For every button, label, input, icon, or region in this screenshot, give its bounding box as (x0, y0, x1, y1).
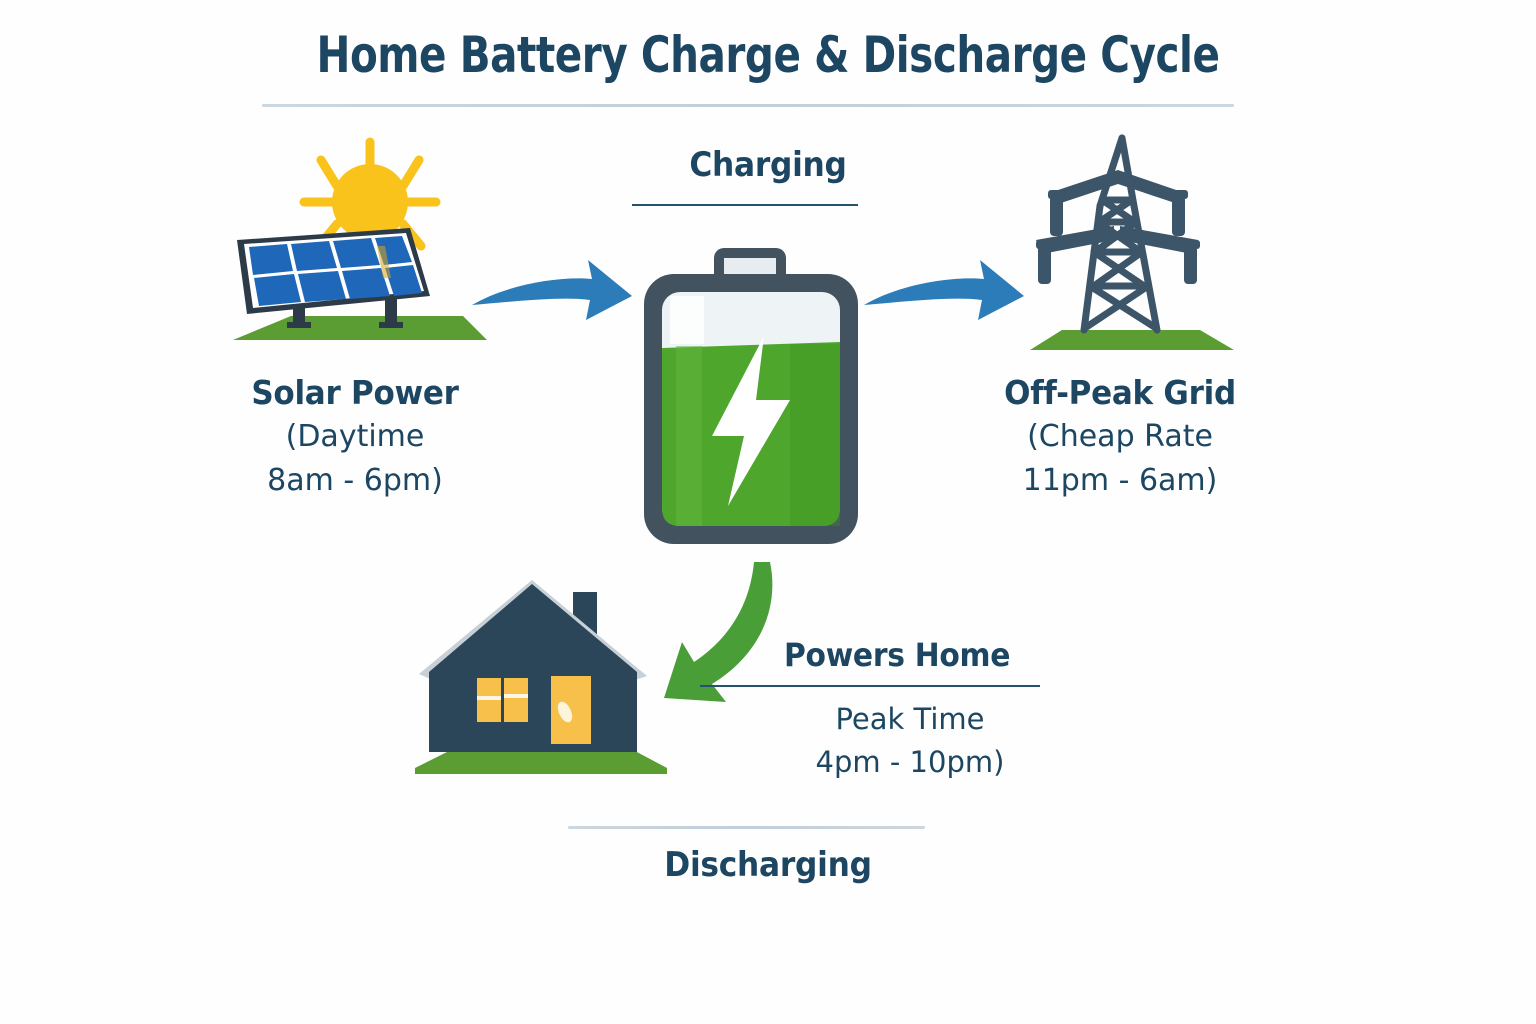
solar-sub-2: 8am - 6pm) (215, 459, 495, 503)
house-door (551, 676, 591, 744)
grass-base (1030, 330, 1234, 350)
grass-base (415, 750, 667, 774)
peak-time-line-2: 4pm - 10pm) (760, 741, 1060, 784)
peak-time-caption: Peak Time 4pm - 10pm) (760, 698, 1060, 784)
grid-caption: Off-Peak Grid (Cheap Rate 11pm - 6am) (975, 371, 1265, 503)
grid-title: Off-Peak Grid (984, 371, 1257, 415)
curved-arrow-right-icon-battery-to-grid (858, 252, 1028, 328)
infographic-canvas: Home Battery Charge & Discharge Cycle Ch… (0, 0, 1536, 1024)
grass-base (233, 316, 487, 340)
title-divider (262, 104, 1234, 107)
peak-time-line-1: Peak Time (760, 698, 1060, 741)
house-body (429, 584, 637, 752)
battery-shadow-right (790, 344, 840, 526)
sun-disc-icon (332, 164, 408, 240)
solar-caption: Solar Power (Daytime 8am - 6pm) (215, 371, 495, 503)
grid-sub-1: (Cheap Rate (975, 415, 1265, 459)
discharging-section-label: Discharging (61, 845, 1474, 885)
page-title: Home Battery Charge & Discharge Cycle (77, 26, 1459, 84)
powers-home-label: Powers Home (784, 636, 1010, 674)
discharging-divider (568, 826, 925, 829)
battery-highlight-left (676, 346, 702, 526)
powers-home-underline (700, 685, 1040, 687)
grid-sub-2: 11pm - 6am) (975, 459, 1265, 503)
solar-panel-with-sun-icon (225, 128, 495, 358)
solar-title: Solar Power (223, 371, 486, 415)
charging-underline (632, 204, 858, 206)
house-extension (611, 702, 631, 740)
curved-arrow-right-icon-solar-to-battery (466, 252, 636, 328)
battery-charging-icon (640, 248, 862, 548)
solar-sub-1: (Daytime (215, 415, 495, 459)
battery-gloss (670, 296, 704, 344)
transmission-tower-icon (1022, 122, 1242, 358)
house-icon (415, 562, 675, 794)
